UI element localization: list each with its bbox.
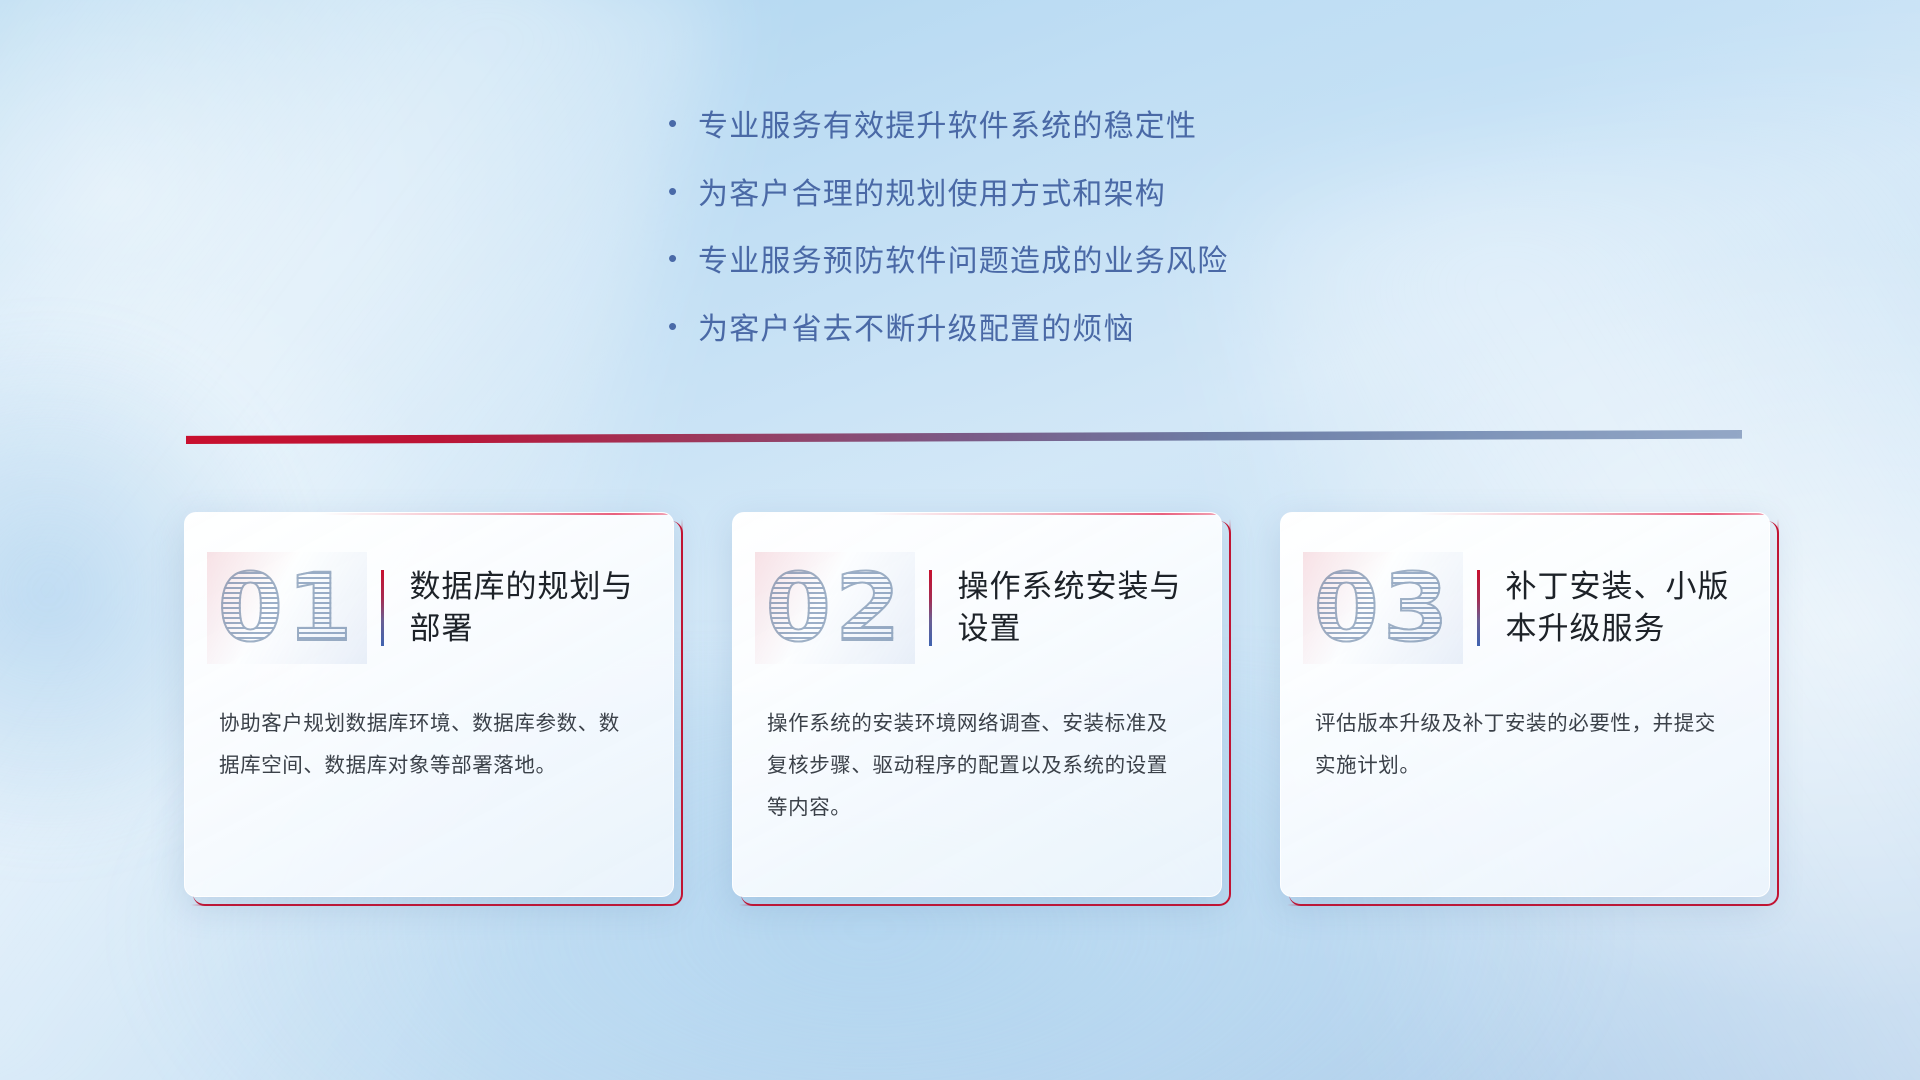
service-card-group: 01 01 数据库的规划与部署 协助客户规划数据库环境、数据库参数、数据库空间、…	[184, 512, 1770, 897]
bullet-point-icon	[668, 245, 698, 271]
card-title-divider	[929, 570, 932, 646]
card-title: 补丁安装、小版本升级服务	[1506, 566, 1744, 649]
card-number-graphic: 02 02	[755, 552, 915, 664]
card-surface: 01 01 数据库的规划与部署 协助客户规划数据库环境、数据库参数、数据库空间、…	[184, 512, 674, 897]
card-title-divider	[1477, 570, 1480, 646]
service-card[interactable]: 01 01 数据库的规划与部署 协助客户规划数据库环境、数据库参数、数据库空间、…	[184, 512, 674, 897]
section-divider	[186, 430, 1742, 444]
card-number-graphic: 01 01	[207, 552, 367, 664]
card-header: 02 02 操作系统安装与设置	[733, 513, 1221, 703]
card-number-stripes: 01	[207, 552, 367, 664]
card-number-stripes: 03	[1303, 552, 1463, 664]
bullet-point-icon	[668, 313, 698, 339]
card-number-graphic: 03 03	[1303, 552, 1463, 664]
bullet-label: 专业服务预防软件问题造成的业务风险	[698, 243, 1228, 281]
bullet-point-icon	[668, 110, 698, 136]
card-number-stripes: 02	[755, 552, 915, 664]
card-title: 数据库的规划与部署	[410, 566, 648, 649]
bullet-label: 专业服务有效提升软件系统的稳定性	[698, 108, 1197, 146]
divider-edge	[186, 430, 1742, 444]
bullet-point-icon	[668, 178, 698, 204]
card-description: 评估版本升级及补丁安装的必要性，并提交实施计划。	[1281, 703, 1769, 787]
bullet-label: 为客户合理的规划使用方式和架构	[698, 176, 1166, 214]
card-title-divider	[381, 570, 384, 646]
list-item: 专业服务预防软件问题造成的业务风险	[668, 243, 1488, 281]
list-item: 专业服务有效提升软件系统的稳定性	[668, 108, 1488, 146]
card-description: 协助客户规划数据库环境、数据库参数、数据库空间、数据库对象等部署落地。	[185, 703, 673, 787]
list-item: 为客户省去不断升级配置的烦恼	[668, 311, 1488, 349]
bullet-label: 为客户省去不断升级配置的烦恼	[698, 311, 1135, 349]
service-card[interactable]: 02 02 操作系统安装与设置 操作系统的安装环境网络调查、安装标准及复核步骤、…	[732, 512, 1222, 897]
slide-canvas: 专业服务有效提升软件系统的稳定性 为客户合理的规划使用方式和架构 专业服务预防软…	[0, 0, 1920, 1080]
card-surface: 02 02 操作系统安装与设置 操作系统的安装环境网络调查、安装标准及复核步骤、…	[732, 512, 1222, 897]
card-header: 03 03 补丁安装、小版本升级服务	[1281, 513, 1769, 703]
card-description: 操作系统的安装环境网络调查、安装标准及复核步骤、驱动程序的配置以及系统的设置等内…	[733, 703, 1221, 829]
card-header: 01 01 数据库的规划与部署	[185, 513, 673, 703]
benefits-bullet-list: 专业服务有效提升软件系统的稳定性 为客户合理的规划使用方式和架构 专业服务预防软…	[668, 108, 1488, 378]
card-surface: 03 03 补丁安装、小版本升级服务 评估版本升级及补丁安装的必要性，并提交实施…	[1280, 512, 1770, 897]
card-title: 操作系统安装与设置	[958, 566, 1196, 649]
service-card[interactable]: 03 03 补丁安装、小版本升级服务 评估版本升级及补丁安装的必要性，并提交实施…	[1280, 512, 1770, 897]
list-item: 为客户合理的规划使用方式和架构	[668, 176, 1488, 214]
